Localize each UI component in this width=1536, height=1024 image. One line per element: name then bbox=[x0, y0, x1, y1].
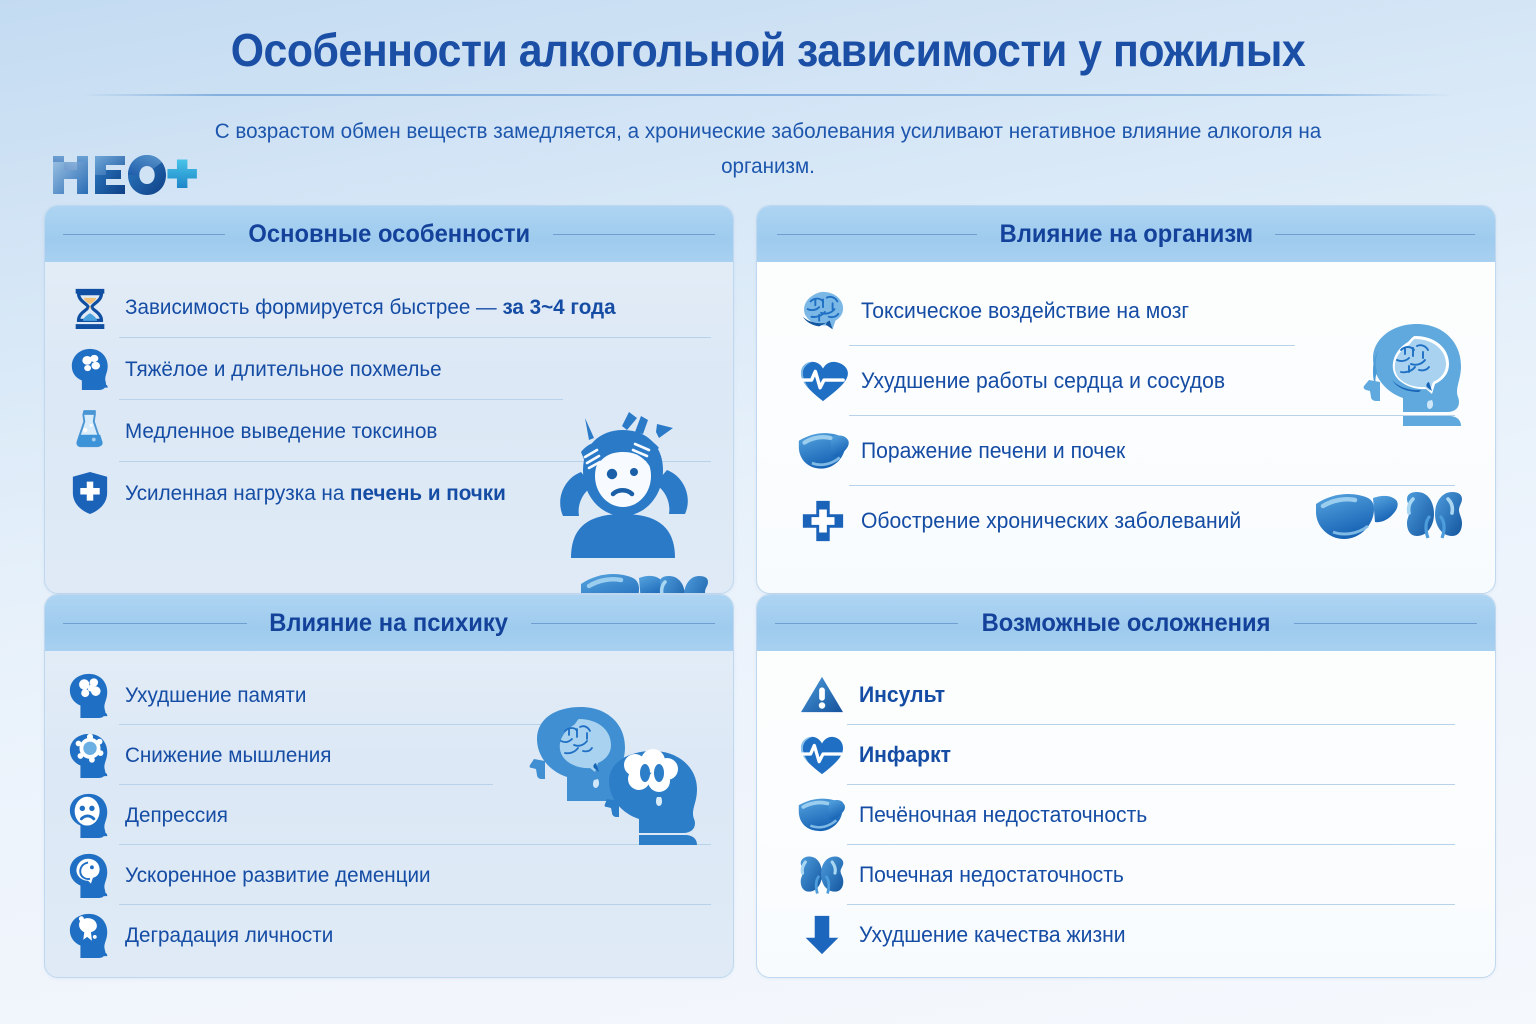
list-item-label: Ухудшение работы сердца и сосудов bbox=[861, 368, 1225, 394]
list-item-label: Зависимость формируется быстрее — за 3~4… bbox=[125, 295, 616, 320]
header-rule-left bbox=[63, 234, 225, 235]
page-subtitle: С возрастом обмен веществ замедляется, а… bbox=[202, 114, 1335, 184]
liver-kidney-illustration bbox=[577, 568, 709, 594]
list-item[interactable]: Инфаркт bbox=[757, 725, 1495, 785]
head-degradation-icon bbox=[67, 912, 113, 958]
brain-icon bbox=[797, 285, 849, 337]
card-psyche-impact: Влияние на психику Ухудшение п bbox=[44, 594, 734, 978]
list-item-label: Поражение печени и почек bbox=[861, 438, 1125, 464]
warning-triangle-icon bbox=[797, 670, 847, 720]
title-divider bbox=[81, 94, 1455, 96]
list-item-label: Усиленная нагрузка на печень и почки bbox=[125, 481, 506, 506]
card-header: Возможные осложнения bbox=[757, 595, 1495, 651]
header-rule-right bbox=[1275, 234, 1475, 235]
list-item-label: Ускоренное развитие деменции bbox=[125, 863, 431, 888]
list-item[interactable]: Ускоренное развитие деменции bbox=[45, 845, 733, 905]
kidney-icon bbox=[797, 850, 847, 900]
list-item[interactable]: Токсическое воздействие на мозг bbox=[757, 276, 1495, 346]
list-item-label: Токсическое воздействие на мозг bbox=[861, 298, 1189, 324]
card-body-impact: Влияние на организм bbox=[756, 205, 1496, 594]
list-item[interactable]: Депрессия bbox=[45, 785, 733, 845]
list-item-label: Депрессия bbox=[125, 803, 228, 828]
header-rule-left bbox=[777, 234, 977, 235]
card-title: Влияние на психику bbox=[270, 609, 509, 638]
liver-icon bbox=[797, 790, 847, 840]
header-rule-left bbox=[775, 623, 958, 624]
list-item-label: Ухудшение памяти bbox=[125, 683, 306, 708]
card-title: Основные особенности bbox=[248, 220, 530, 249]
list-item[interactable]: Почечная недостаточность bbox=[757, 845, 1495, 905]
card-possible-complications: Возможные осложнения bbox=[756, 594, 1496, 978]
card-body: Зависимость формируется быстрее — за 3~4… bbox=[45, 262, 733, 536]
list-item-label: Снижение мышления bbox=[125, 743, 331, 768]
heart-pulse-icon bbox=[797, 730, 847, 780]
head-dementia-icon bbox=[67, 852, 113, 898]
header-rule-right bbox=[1294, 623, 1477, 624]
card-main-features: Основные особенности Зависимость формиру… bbox=[44, 205, 734, 594]
list-item[interactable]: Тяжёлое и длительное похмелье bbox=[45, 338, 733, 400]
list-item-label: Медленное выведение токсинов bbox=[125, 419, 437, 444]
neo-plus-logo[interactable] bbox=[47, 148, 207, 200]
heart-pulse-icon bbox=[797, 355, 849, 407]
list-item[interactable]: Обострение хронических заболеваний bbox=[757, 486, 1495, 556]
card-body: Токсическое воздействие на мозг Ухудшени… bbox=[757, 262, 1495, 568]
arrow-down-icon bbox=[797, 910, 847, 960]
card-header: Влияние на организм bbox=[757, 206, 1495, 262]
list-item-label: Деградация личности bbox=[125, 923, 333, 948]
header-rule-left bbox=[63, 623, 247, 624]
page-title: Особенности алкогольной зависимости у по… bbox=[54, 26, 1482, 76]
card-header: Влияние на психику bbox=[45, 595, 733, 651]
list-item[interactable]: Поражение печени и почек bbox=[757, 416, 1495, 486]
list-item[interactable]: Медленное выведение токсинов bbox=[45, 400, 733, 462]
flask-icon bbox=[67, 408, 113, 454]
medical-cross-icon bbox=[797, 495, 849, 547]
card-header: Основные особенности bbox=[45, 206, 733, 262]
card-body: Инсульт Инфаркт bbox=[757, 651, 1495, 977]
list-item[interactable]: Усиленная нагрузка на печень и почки bbox=[45, 462, 733, 524]
card-body: Ухудшение памяти bbox=[45, 651, 733, 977]
head-thinking-icon bbox=[67, 732, 113, 778]
shield-cross-icon bbox=[67, 470, 113, 516]
list-item-label: Ухудшение качества жизни bbox=[859, 922, 1126, 948]
head-brain-icon bbox=[67, 346, 113, 392]
liver-icon bbox=[797, 425, 849, 477]
list-item[interactable]: Ухудшение качества жизни bbox=[757, 905, 1495, 965]
list-item[interactable]: Снижение мышления bbox=[45, 725, 733, 785]
hourglass-icon bbox=[67, 284, 113, 330]
list-item[interactable]: Деградация личности bbox=[45, 905, 733, 965]
head-sad-face-icon bbox=[67, 792, 113, 838]
header-rule-right bbox=[531, 623, 715, 624]
head-memory-icon bbox=[67, 672, 113, 718]
list-item-label: Инсульт bbox=[859, 682, 945, 708]
list-item[interactable]: Печёночная недостаточность bbox=[757, 785, 1495, 845]
list-item[interactable]: Инсульт bbox=[757, 665, 1495, 725]
card-grid: Основные особенности Зависимость формиру… bbox=[0, 205, 1536, 978]
list-item[interactable]: Ухудшение памяти bbox=[45, 665, 733, 725]
list-item-label: Обострение хронических заболеваний bbox=[861, 508, 1241, 534]
card-title: Влияние на организм bbox=[999, 220, 1252, 249]
list-item[interactable]: Зависимость формируется быстрее — за 3~4… bbox=[45, 276, 733, 338]
page-header: Особенности алкогольной зависимости у по… bbox=[0, 0, 1536, 183]
list-item[interactable]: Ухудшение работы сердца и сосудов bbox=[757, 346, 1495, 416]
list-item-label: Почечная недостаточность bbox=[859, 862, 1124, 888]
card-title: Возможные осложнения bbox=[982, 609, 1271, 638]
header-rule-right bbox=[553, 234, 715, 235]
list-item-label: Печёночная недостаточность bbox=[859, 802, 1147, 828]
list-item-label: Инфаркт bbox=[859, 742, 951, 768]
list-item-label: Тяжёлое и длительное похмелье bbox=[125, 357, 442, 382]
